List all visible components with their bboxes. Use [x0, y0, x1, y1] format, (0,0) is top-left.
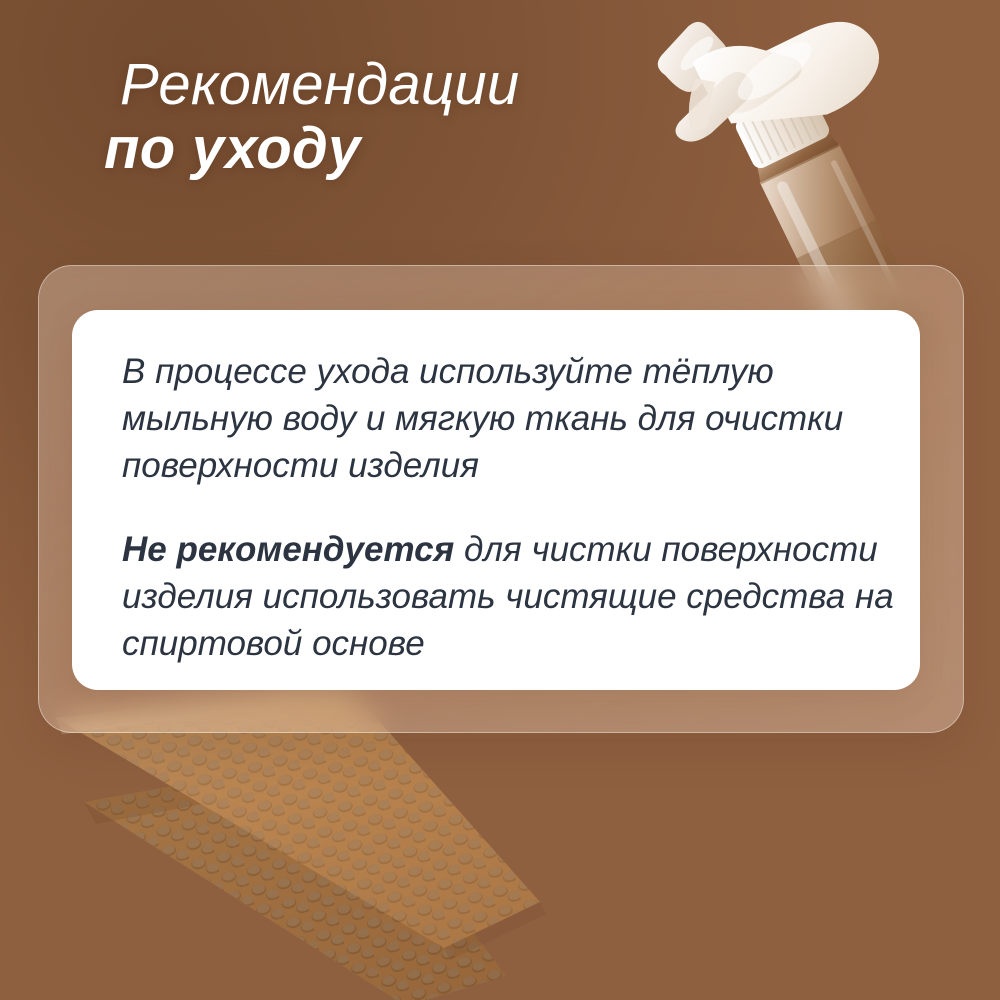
page-title-line-2: по уходу — [96, 119, 519, 178]
page-title: Рекомендации по уходу — [96, 55, 519, 177]
page-title-line-1: Рекомендации — [96, 55, 519, 114]
paragraph-recommended-text: В процессе ухода используйте тёплую мыль… — [122, 352, 843, 485]
care-instructions-slide: Рекомендации по уходу В процессе ухода и… — [0, 0, 1000, 1000]
care-instructions-text: В процессе ухода используйте тёплую мыль… — [122, 348, 912, 667]
folded-waffle-towel-icon — [40, 690, 680, 1000]
paragraph-not-recommended: Не рекомендуется для чистки поверхности … — [122, 526, 912, 667]
paragraph-not-recommended-lead: Не рекомендуется — [122, 530, 454, 569]
paragraph-recommended: В процессе ухода используйте тёплую мыль… — [122, 348, 912, 489]
